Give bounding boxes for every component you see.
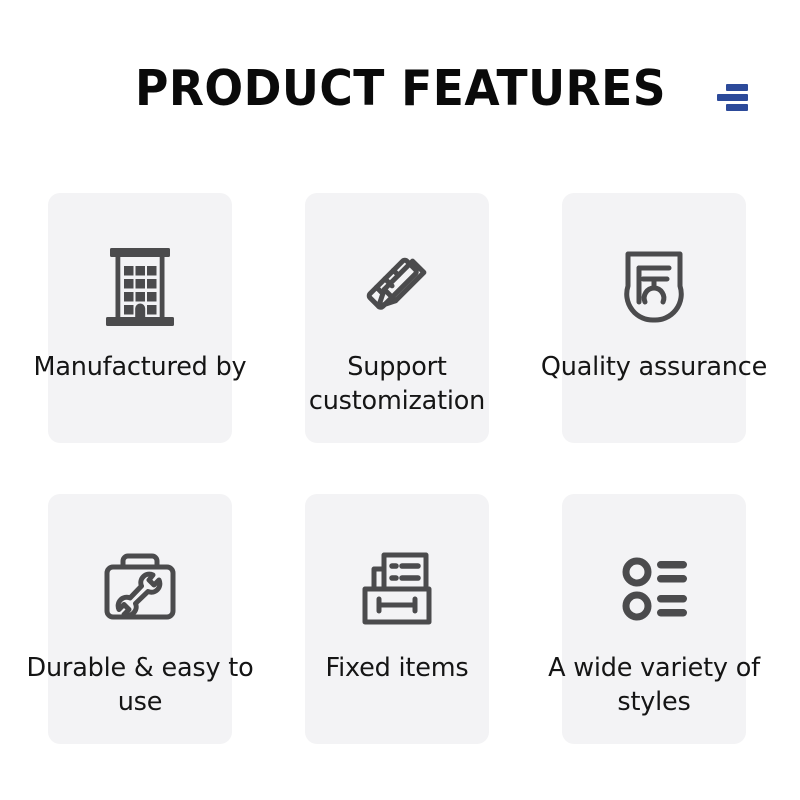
feature-card-support-customization[interactable]: Support customization — [305, 193, 489, 443]
feature-card-quality-assurance[interactable]: Quality assurance — [562, 193, 746, 443]
list-bars-icon-bar-middle — [717, 94, 748, 101]
list-circles-icon — [609, 546, 699, 632]
factory-building-icon — [95, 245, 185, 331]
list-bars-icon[interactable] — [716, 82, 750, 114]
feature-card-label: Manufactured by — [16, 351, 264, 385]
feature-card-a-wide-variety-of-styles[interactable]: A wide variety of styles — [562, 494, 746, 744]
shield-quality-icon — [609, 245, 699, 331]
page-header: PRODUCT FEATURES — [0, 56, 800, 120]
page-title: PRODUCT FEATURES — [134, 64, 665, 113]
feature-card-manufactured-by[interactable]: Manufactured by — [48, 193, 232, 443]
feature-card-fixed-items[interactable]: Fixed items — [305, 494, 489, 744]
feature-card-label: A wide variety of styles — [530, 652, 778, 720]
pencil-ruler-icon — [352, 245, 442, 331]
feature-card-label: Quality assurance — [530, 351, 778, 385]
toolbox-wrench-icon — [95, 546, 185, 632]
printer-document-icon — [352, 546, 442, 632]
feature-card-durable-easy-to-use[interactable]: Durable & easy to use — [48, 494, 232, 744]
list-bars-icon-bar-top — [726, 84, 748, 91]
feature-card-label: Fixed items — [273, 652, 521, 686]
feature-card-label: Durable & easy to use — [16, 652, 264, 720]
feature-card-grid: Manufactured by — [48, 193, 746, 731]
feature-card-label: Support customization — [273, 351, 521, 419]
list-bars-icon-bar-bottom — [726, 104, 748, 111]
product-features-page: PRODUCT FEATURES — [0, 0, 800, 800]
